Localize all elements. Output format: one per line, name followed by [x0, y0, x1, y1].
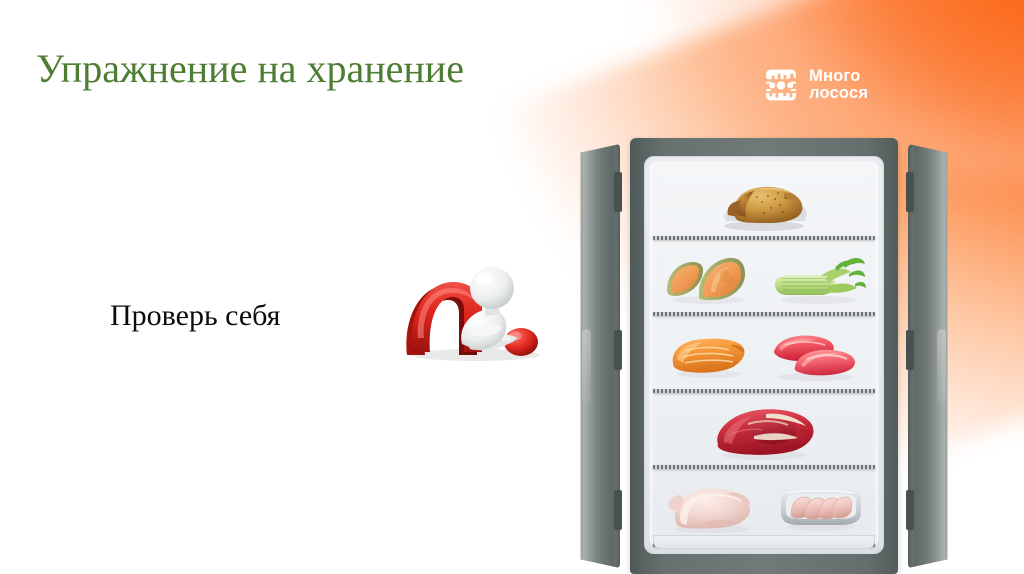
salmon-fillet-item — [665, 329, 753, 381]
presentation-slide: Много лосося Упражнение на хранение Пров… — [0, 0, 1024, 574]
door-handle-right[interactable] — [937, 329, 946, 403]
fridge-crisper-drawer[interactable] — [653, 535, 875, 549]
page-title: Упражнение на хранение — [36, 43, 466, 94]
raw-chicken-tray-item — [777, 481, 865, 533]
hinge-icon — [906, 330, 914, 370]
hinge-icon — [614, 490, 622, 530]
fridge-door-right[interactable] — [908, 144, 950, 568]
brand-name-line-2: лосося — [809, 85, 868, 102]
open-refrigerator — [578, 138, 950, 574]
roast-chicken-item — [712, 171, 816, 233]
fridge-shelf — [651, 393, 877, 469]
fridge-shelf — [651, 164, 877, 240]
brand-name-line-1: Много — [809, 68, 868, 85]
raw-beef-steak-item — [708, 400, 820, 462]
hinge-icon — [906, 172, 914, 212]
fridge-cabinet — [630, 138, 898, 574]
fridge-interior — [644, 156, 884, 554]
brand-logo: Много лосося — [762, 66, 868, 104]
hinge-icon — [614, 330, 622, 370]
brand-logo-text: Много лосося — [809, 68, 868, 102]
fridge-shelf — [651, 316, 877, 392]
raw-whole-chicken-item — [663, 479, 763, 535]
door-handle-left[interactable] — [582, 329, 591, 403]
salmon-pattern-mark-icon — [762, 66, 800, 104]
celery-item — [771, 250, 867, 306]
fridge-door-left[interactable] — [578, 144, 620, 568]
fridge-shelf-list — [651, 164, 877, 545]
melon-slices-item — [661, 250, 757, 306]
fridge-shelf — [651, 240, 877, 316]
question-mark-figure — [398, 252, 558, 364]
fridge-shelf — [651, 469, 877, 545]
hinge-icon — [906, 490, 914, 530]
subtitle-check-yourself: Проверь себя — [110, 298, 280, 334]
tuna-steaks-item — [767, 327, 863, 383]
hinge-icon — [614, 172, 622, 212]
